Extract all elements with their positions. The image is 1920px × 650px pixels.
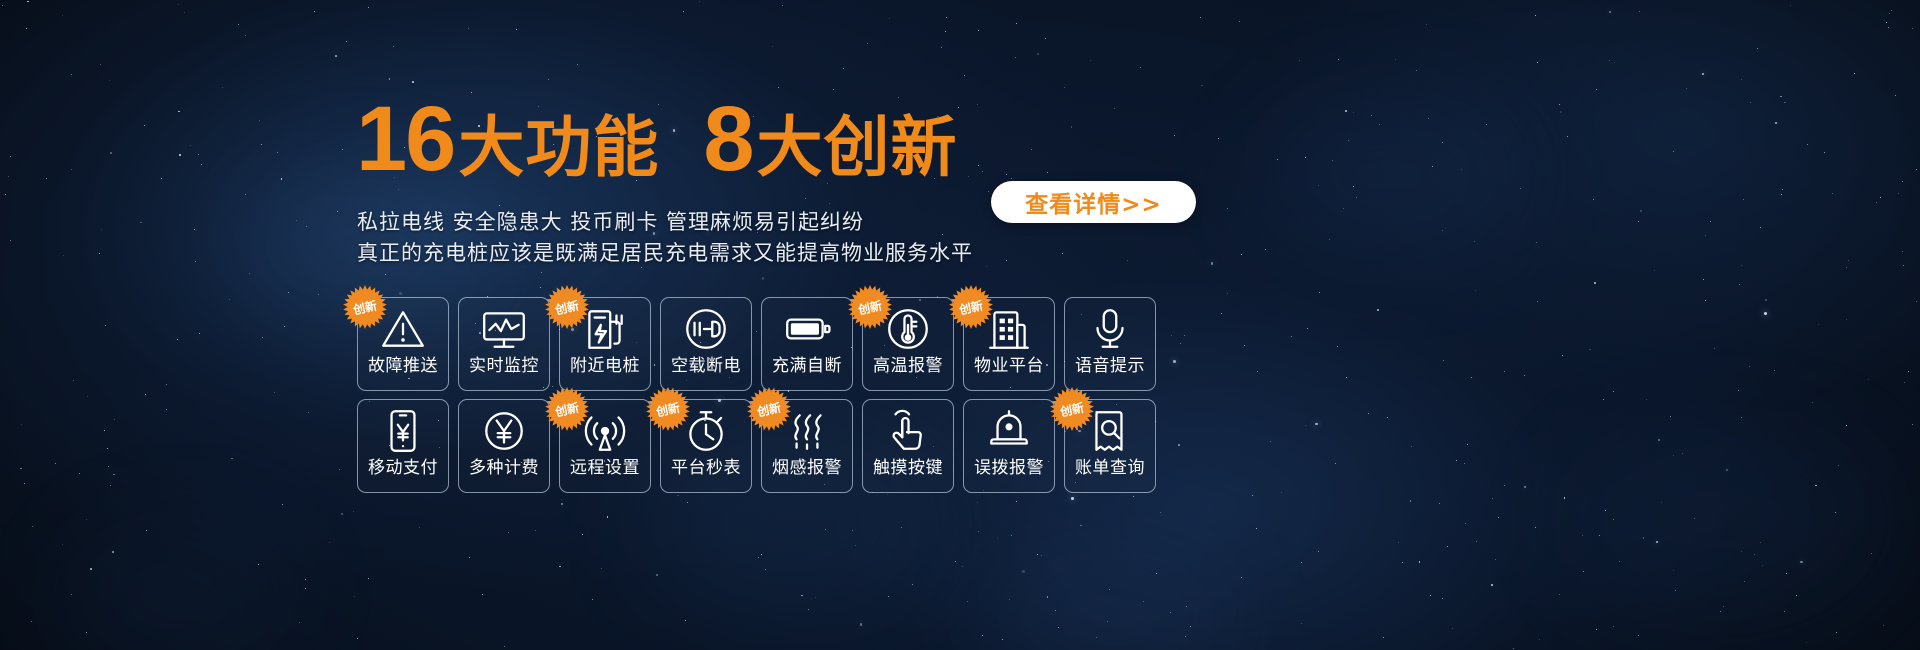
feature-cell-空载断电[interactable]: 空载断电 <box>660 297 752 391</box>
feature-label: 远程设置 <box>570 460 640 477</box>
subtitle-line-2: 真正的充电桩应该是既满足居民充电需求又能提高物业服务水平 <box>357 238 973 269</box>
feature-label: 物业平台 <box>974 358 1044 375</box>
feature-label: 账单查询 <box>1075 460 1145 477</box>
feature-label: 触摸按键 <box>873 460 943 477</box>
bill-search-icon <box>1065 402 1155 460</box>
plug-disconnect-icon <box>661 300 751 358</box>
subtitle-line-1: 私拉电线 安全隐患大 投币刷卡 管理麻烦易引起纠纷 <box>357 207 973 238</box>
banner-stage: 16 大功能 8 大创新 私拉电线 安全隐患大 投币刷卡 管理麻烦易引起纠纷 真… <box>0 0 1920 650</box>
feature-label: 附近电桩 <box>570 358 640 375</box>
headline-text-2: 大创新 <box>757 115 958 181</box>
feature-cell-移动支付[interactable]: 移动支付 <box>357 399 449 493</box>
headline-text-1: 大功能 <box>458 115 659 181</box>
page-title: 16 大功能 8 大创新 <box>356 93 958 185</box>
feature-cell-误拨报警[interactable]: 误拨报警 <box>963 399 1055 493</box>
feature-label: 故障推送 <box>368 358 438 375</box>
feature-label: 高温报警 <box>873 358 943 375</box>
stopwatch-icon <box>661 402 751 460</box>
building-icon <box>964 300 1054 358</box>
wireless-signal-icon <box>560 402 650 460</box>
alarm-bell-icon <box>964 402 1054 460</box>
feature-cell-平台秒表[interactable]: 创新平台秒表 <box>660 399 752 493</box>
feature-cell-充满自断[interactable]: 充满自断 <box>761 297 853 391</box>
monitor-waveform-icon <box>459 300 549 358</box>
thermometer-icon <box>863 300 953 358</box>
feature-row-1: 创新故障推送实时监控创新附近电桩空载断电充满自断创新高温报警创新物业平台语音提示 <box>357 297 1156 391</box>
subtitle-block: 私拉电线 安全隐患大 投币刷卡 管理麻烦易引起纠纷 真正的充电桩应该是既满足居民… <box>357 207 973 269</box>
feature-label: 实时监控 <box>469 358 539 375</box>
feature-label: 语音提示 <box>1075 358 1145 375</box>
feature-label: 误拨报警 <box>974 460 1044 477</box>
feature-cell-故障推送[interactable]: 创新故障推送 <box>357 297 449 391</box>
feature-label: 移动支付 <box>368 460 438 477</box>
yuan-coin-icon <box>459 402 549 460</box>
touch-hand-icon <box>863 402 953 460</box>
feature-cell-账单查询[interactable]: 创新账单查询 <box>1064 399 1156 493</box>
smoke-sensor-icon <box>762 402 852 460</box>
battery-full-icon <box>762 300 852 358</box>
view-details-button[interactable]: 查看详情>> <box>991 181 1196 223</box>
feature-label: 充满自断 <box>772 358 842 375</box>
feature-label: 平台秒表 <box>671 460 741 477</box>
feature-cell-多种计费[interactable]: 多种计费 <box>458 399 550 493</box>
microphone-icon <box>1065 300 1155 358</box>
feature-cell-高温报警[interactable]: 创新高温报警 <box>862 297 954 391</box>
feature-label: 烟感报警 <box>772 460 842 477</box>
charging-pile-icon <box>560 300 650 358</box>
feature-cell-附近电桩[interactable]: 创新附近电桩 <box>559 297 651 391</box>
feature-cell-实时监控[interactable]: 实时监控 <box>458 297 550 391</box>
headline-number-2: 8 <box>703 93 752 185</box>
feature-cell-语音提示[interactable]: 语音提示 <box>1064 297 1156 391</box>
feature-row-2: 移动支付多种计费创新远程设置创新平台秒表创新烟感报警触摸按键误拨报警创新账单查询 <box>357 399 1156 493</box>
feature-cell-烟感报警[interactable]: 创新烟感报警 <box>761 399 853 493</box>
mobile-payment-icon <box>358 402 448 460</box>
feature-cell-远程设置[interactable]: 创新远程设置 <box>559 399 651 493</box>
feature-label: 多种计费 <box>469 460 539 477</box>
feature-label: 空载断电 <box>671 358 741 375</box>
headline-number-1: 16 <box>356 93 454 185</box>
feature-cell-触摸按键[interactable]: 触摸按键 <box>862 399 954 493</box>
feature-cell-物业平台[interactable]: 创新物业平台 <box>963 297 1055 391</box>
feature-grid: 创新故障推送实时监控创新附近电桩空载断电充满自断创新高温报警创新物业平台语音提示… <box>357 297 1156 493</box>
warning-triangle-icon <box>358 300 448 358</box>
